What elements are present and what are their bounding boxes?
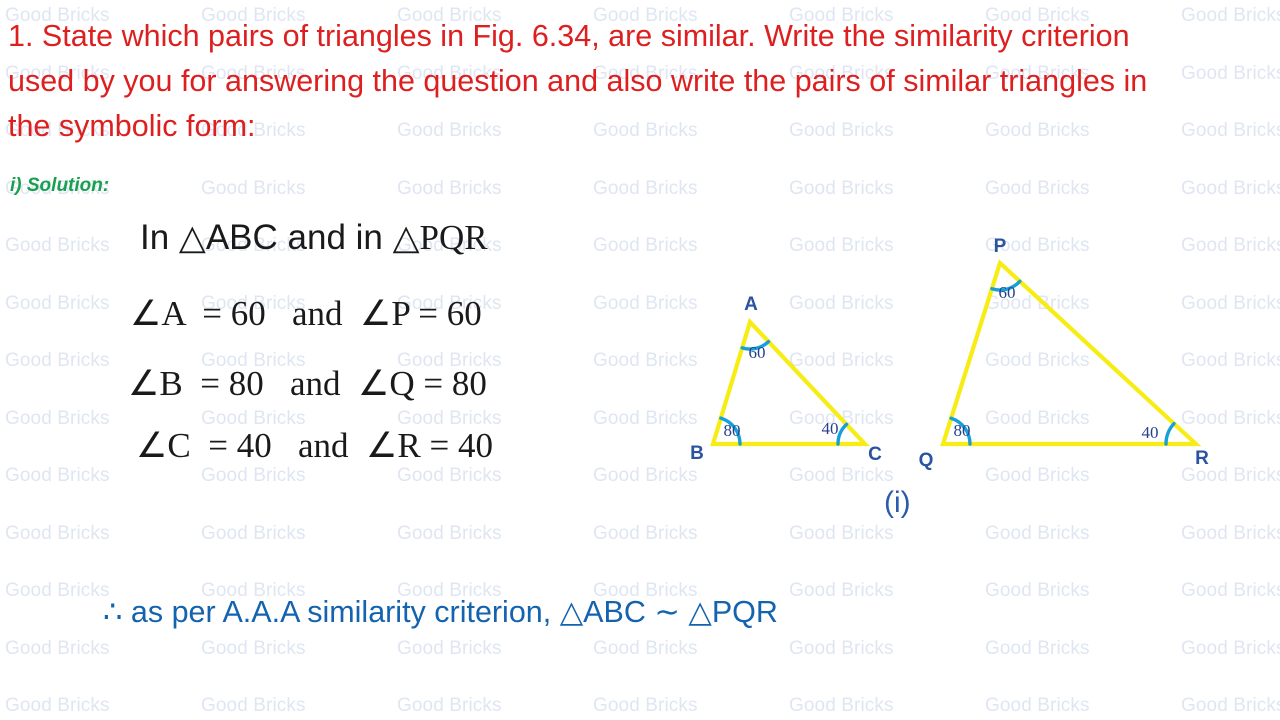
vertex-label-a: A [744,294,758,315]
triangle-pqr: P Q R 60 80 40 [919,236,1210,471]
triangle-abc: A B C 60 80 40 [690,294,882,465]
vertex-label-b: B [690,443,704,464]
question-text: 1. State which pairs of triangles in Fig… [8,14,1158,149]
angle-arc-r [1166,424,1174,444]
math-line-angle-b-q: ∠B = 80 and ∠Q = 80 [128,364,487,404]
angle-value-c: 40 [822,419,839,438]
angle-value-p: 60 [999,283,1016,302]
figure-caption: (i) [884,486,911,520]
angle-value-r: 40 [1142,423,1159,442]
solution-label: i) Solution: [10,175,109,197]
vertex-label-c: C [868,444,882,465]
math-intro-prefix: In △ABC and in [140,218,393,257]
figure-triangles: A B C 60 80 40 P Q R 60 80 [660,230,1260,530]
triangles-diagram: A B C 60 80 40 P Q R 60 80 [660,230,1260,530]
math-line-angle-c-r: ∠C = 40 and ∠R = 40 [136,426,493,466]
content-layer: 1. State which pairs of triangles in Fig… [0,0,1280,720]
math-line-intro: In △ABC and in △PQR [140,218,488,258]
triangle-pqr-outline [943,263,1196,444]
slide-canvas: Good BricksGood BricksGood BricksGood Br… [0,0,1280,720]
angle-value-q: 80 [954,421,971,440]
angle-value-a: 60 [749,343,766,362]
math-intro-suffix: △PQR [393,218,488,257]
conclusion-text: ∴ as per A.A.A similarity criterion, △AB… [103,595,778,630]
vertex-label-q: Q [919,450,934,471]
angle-value-b: 80 [724,421,741,440]
vertex-label-r: R [1195,448,1209,469]
math-line-angle-a-p: ∠A = 60 and ∠P = 60 [130,294,482,334]
vertex-label-p: P [994,236,1007,257]
angle-arc-c [838,424,846,444]
